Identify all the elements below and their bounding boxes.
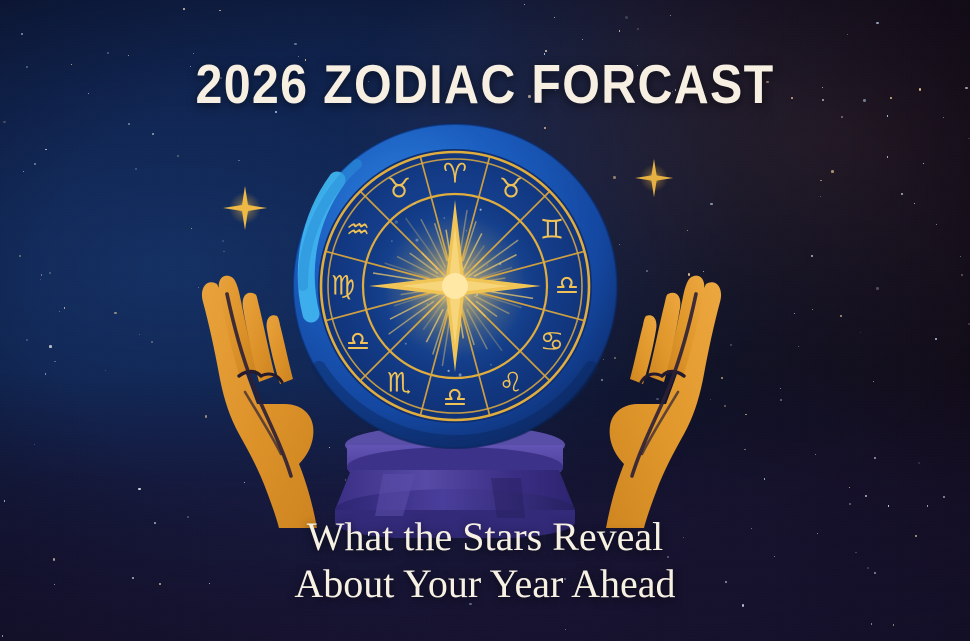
crystal-ball: ♈♉♊♎♋♌♎♏♎♍♒♉ (275, 118, 635, 538)
zodiac-glyph-aquarius-11: ♒ (346, 215, 370, 246)
zodiac-glyph-virgo-10: ♍ (331, 271, 355, 302)
poster-subtitle: What the Stars Reveal About Your Year Ah… (0, 514, 970, 607)
zodiac-glyph-libra-9: ♎ (346, 327, 370, 358)
subtitle-line-1: What the Stars Reveal (0, 514, 970, 560)
zodiac-glyph-cancer-5: ♋ (540, 327, 564, 358)
four-point-star-icon (634, 158, 674, 198)
zodiac-glyph-aries-1: ♈ (443, 159, 467, 190)
sparkle-star-left (222, 185, 268, 236)
zodiac-forecast-poster: 2026 ZODIAC FORCAST (0, 0, 970, 641)
zodiac-glyph-scorpio-8: ♏ (387, 367, 411, 398)
zodiac-glyph-leo-6: ♌ (499, 367, 523, 398)
zodiac-glyph-gemini-3: ♊ (540, 215, 564, 246)
poster-title: 2026 ZODIAC FORCAST (58, 52, 912, 116)
zodiac-glyph-libra-7: ♎ (443, 383, 467, 414)
zodiac-glyph-libra-4: ♎ (555, 271, 579, 302)
subtitle-line-2: About Your Year Ahead (0, 561, 970, 607)
zodiac-glyph-taurus-12: ♉ (387, 174, 411, 205)
zodiac-glyph-taurus-2: ♉ (499, 174, 523, 205)
four-point-star-icon (222, 185, 268, 231)
sparkle-star-right (634, 158, 674, 203)
